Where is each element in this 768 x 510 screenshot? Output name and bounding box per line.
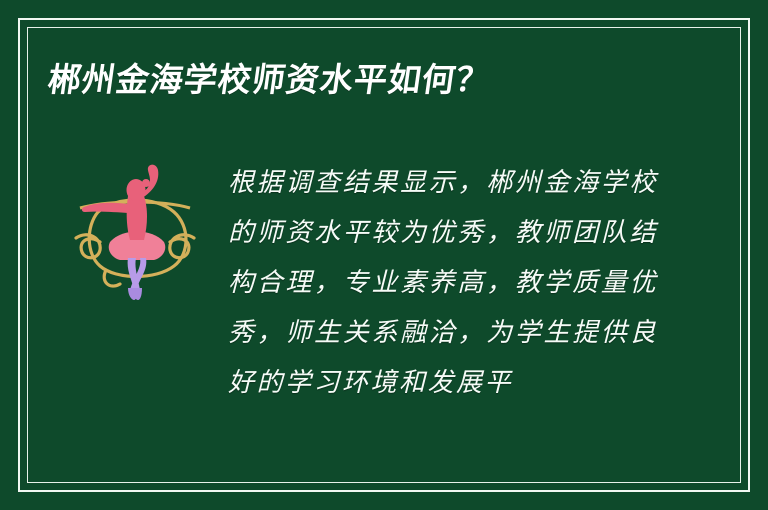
page-title: 郴州金海学校师资水平如何？ [45,62,492,98]
article-body-paragraph: 根据调查结果显示，郴州金海学校的师资水平较为优秀，教师团队结构合理，专业素养高，… [228,158,658,408]
article-card: 郴州金海学校师资水平如何？ [0,0,768,510]
ballerina-dancer-icon [70,150,200,300]
